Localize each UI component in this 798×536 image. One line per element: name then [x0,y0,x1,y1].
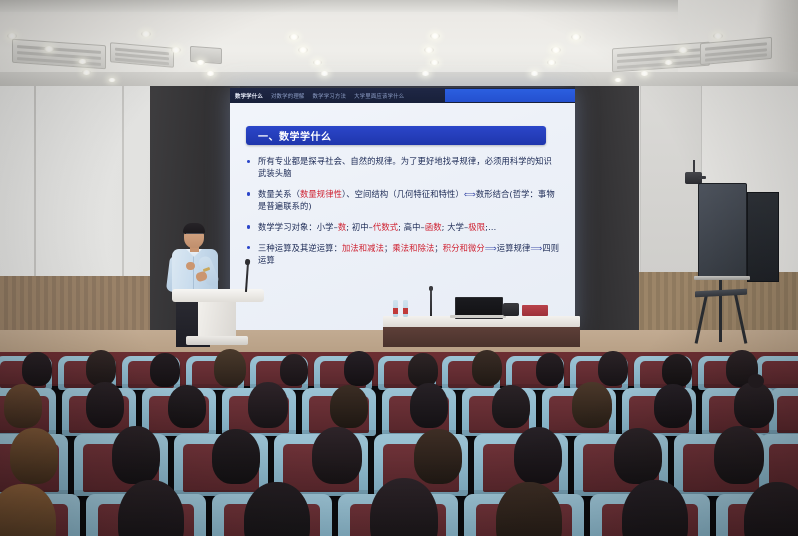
slide-tab-3[interactable]: 大学里面应该学什么 [354,92,404,100]
ceiling-downlight [640,71,649,76]
slide-bullet-segment: ;… [485,222,496,232]
slide-bullet: 三种运算及其逆运算：加法和减法；乘法和除法；积分和微分⟹运算规律⟹四则运算 [244,242,560,266]
audience-head [514,427,562,484]
ceiling-downlight [78,59,87,64]
ceiling-downlight [551,47,561,53]
audience-head [614,428,662,484]
audience-head [168,385,206,428]
ceiling-downlight [320,71,329,76]
audience-head [330,385,368,428]
audience-head [312,427,362,484]
wall-mounted-display [747,192,779,282]
mobile-display-base [694,276,750,280]
slide-title: 一、数学学什么 [258,128,332,143]
audience-head [22,352,52,386]
ceiling-downlight [547,60,556,65]
slide-bullet-segment: 乘法和除法 [392,243,434,253]
audience-head [472,350,502,386]
audience-hair-bun [748,374,764,388]
audience-head [408,353,438,387]
slide-title-banner: 一、数学学什么 [246,126,546,145]
ceiling-downlight [678,47,688,53]
audience-head [248,382,288,428]
slide-bullet: 数量关系（数量规律性）、空间结构（几何特征和特性）⟺数形结合(哲学：事物是普遍联… [244,188,560,212]
ceiling-downlight [141,31,151,37]
audience-head [662,354,692,387]
audience-head [4,384,42,428]
slide-bullet-segment: 数量规律性 [300,189,342,199]
ceiling-downlight [196,60,205,65]
slide-bullet-segment: 积分和微分 [443,243,485,253]
slide-bullet-segment: 极限 [468,222,485,232]
ceiling-downlight [664,60,673,65]
ceiling-downlight [7,33,17,39]
slide-bullet: 数学学习对象：小学–数; 初中–代数式; 高中–函数; 大学–极限;… [244,221,560,233]
slide-bullet-segment: ; 高中– [398,222,425,232]
slide-bullet-segment: 数学学习对象：小学– [258,222,338,232]
audience-head [112,426,160,484]
ceiling-downlight [713,33,723,39]
audience-head [344,351,374,386]
slide-bullet-segment: 加法和减法 [342,243,384,253]
mobile-display-screen [698,183,747,278]
ceiling-downlight [171,47,181,53]
slide-bullet-segment: ⟺ [464,189,476,199]
ceiling-downlight [298,47,308,53]
slide-bullet-segment: 函数 [425,222,442,232]
ceiling-downlight [421,71,430,76]
right-curtain [575,86,639,354]
audience-head [280,354,308,386]
slide-bullet-segment: ⟹ [530,243,542,253]
equipment-box [503,303,519,316]
audience-head [492,385,530,428]
audience-head [654,384,692,428]
audience-head [86,350,116,386]
slide-bullet-segment: ⟹ [485,243,497,253]
ceiling-downlight [313,60,322,65]
projection-screen: 数学学什么 对数学的理解 数学学习方法 大学里面应该学什么 一、数学学什么 所有… [230,88,575,331]
audience-head [212,429,260,484]
audience-head [536,353,564,386]
slide-bullet-segment: 所有专业都是探寻社会、自然的规律。为了更好地找寻规律，必须用科学的知识武装头脑 [258,156,552,178]
slide-bullet-segment: 运算规律 [497,243,531,253]
ceiling-downlight [530,71,539,76]
slide-tab-2[interactable]: 数学学习方法 [313,92,347,100]
ceiling-downlight [430,60,439,65]
ceiling-downlight [289,34,299,40]
ceiling-downlight [614,78,622,82]
audience [0,344,798,536]
slide-tab-0[interactable]: 数学学什么 [235,92,263,100]
slide-bullet-segment: 数量关系（ [258,189,300,199]
podium-top [172,289,264,302]
wall-seam [34,86,36,276]
audience-head [572,382,612,428]
audience-head [414,429,462,484]
desk-microphone [430,288,432,316]
ceiling-downlight [430,33,440,39]
ceiling-downlight [571,34,581,40]
audience-head [410,383,448,428]
ceiling-downlight [82,70,91,75]
slide-bullet-segment: 代数式 [373,222,398,232]
water-bottle [393,300,398,317]
slide-bullet-segment: ； [434,243,442,253]
ceiling-vent [190,46,222,64]
audience-head [214,349,246,387]
slide-bullet-segment: ; 初中– [346,222,373,232]
name-plate [522,305,548,316]
slide-tab-bar: 数学学什么 对数学的理解 数学学习方法 大学里面应该学什么 [230,88,575,103]
slide-bullet-list: 所有专业都是探寻社会、自然的规律。为了更好地找寻规律，必须用科学的知识武装头脑 … [244,155,560,274]
water-bottle [403,300,408,317]
audience-head [714,426,764,484]
slide-bullet: 所有专业都是探寻社会、自然的规律。为了更好地找寻规律，必须用科学的知识武装头脑 [244,155,560,179]
slide-body: 一、数学学什么 所有专业都是探寻社会、自然的规律。为了更好地找寻规律，必须用科学… [230,103,575,331]
audience-head [86,382,124,428]
auditorium-seat [770,388,798,436]
ceiling-downlight [424,47,434,53]
audience-head [10,428,58,484]
wall-seam [122,86,124,276]
slide-tab-accent-bar [445,89,575,102]
audience-head [150,353,180,387]
ceiling-downlight [206,71,215,76]
glasses-icon [186,233,203,238]
ceiling-downlight [44,46,54,52]
speaker-left-hand [186,262,195,270]
laptop-base [450,315,506,318]
slide-bullet-segment: 数 [338,222,346,232]
ceiling-downlight [108,78,116,82]
slide-bullet-segment: ）、空间结构（几何特征和特性） [342,189,464,199]
audience-head [734,382,774,428]
slide-bullet-segment: 三种运算及其逆运算： [258,243,342,253]
audience-head [598,351,628,386]
lecture-hall-photo: 数学学什么 对数学的理解 数学学习方法 大学里面应该学什么 一、数学学什么 所有… [0,0,798,536]
slide-bullet-segment: ; 大学– [442,222,469,232]
slide-tab-1[interactable]: 对数学的理解 [271,92,305,100]
